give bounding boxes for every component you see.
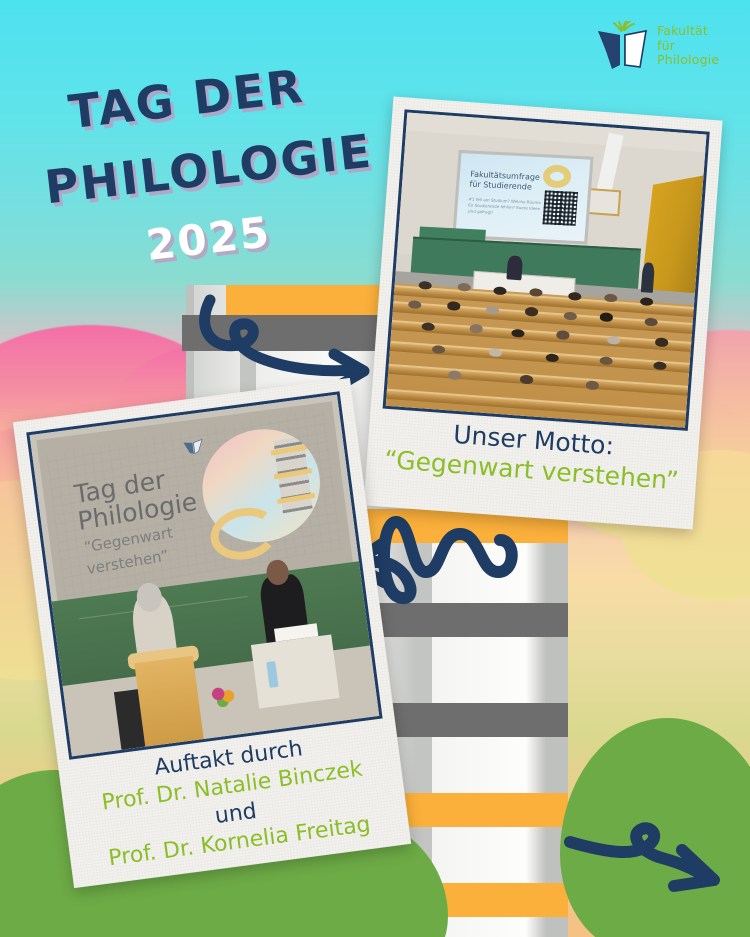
- title-line-2: PHILOLOGIE: [42, 124, 375, 215]
- slide-open-book-icon: [175, 434, 211, 459]
- photo-lecture-hall: Fakultätsumfrage für Studierende #1 Teil…: [383, 109, 710, 431]
- poster-canvas: Fakultät für Philologie TAG DER PHILOLOG…: [0, 0, 750, 937]
- faculty-logo: Fakultät für Philologie: [594, 16, 744, 76]
- attendee-head: [600, 313, 614, 323]
- poster-title: TAG DER PHILOLOGIE 2025: [52, 62, 392, 282]
- lecture-hall-speaker: [506, 256, 523, 281]
- lecture-hall-seating: [386, 283, 694, 428]
- talk-flower-bouquet: [210, 683, 238, 709]
- attendee-head: [556, 330, 570, 340]
- talk-scene: Tag der Philologie “Gegenwart verstehen”: [30, 395, 380, 757]
- lecture-hall-scene: Fakultätsumfrage für Studierende #1 Teil…: [386, 113, 707, 428]
- logo-line-2: für: [657, 39, 719, 54]
- attendee-head: [525, 307, 539, 317]
- logo-line-1: Fakultät: [657, 24, 719, 39]
- faculty-logo-text: Fakultät für Philologie: [657, 24, 719, 68]
- polaroid-lecture-hall[interactable]: Fakultätsumfrage für Studierende #1 Teil…: [363, 96, 722, 529]
- slide-subtitle: #1 Teil am Studium? Welche Räume für Stu…: [467, 197, 546, 219]
- talk-lectern: [135, 655, 204, 746]
- attendee-head: [655, 338, 669, 348]
- attendee-head: [447, 301, 461, 311]
- attendee-head: [469, 324, 483, 334]
- talk-table: [251, 634, 339, 709]
- photo-opening-talk: Tag der Philologie “Gegenwart verstehen”: [26, 391, 382, 759]
- lecture-hall-projector: [586, 188, 621, 217]
- slide-qr-code: [543, 191, 578, 227]
- attendee-head: [520, 375, 534, 385]
- polaroid-opening-talk[interactable]: Tag der Philologie “Gegenwart verstehen”: [13, 378, 411, 888]
- slide-title: Tag der Philologie: [73, 462, 199, 536]
- lecture-hall-attendee-standing: [641, 262, 655, 292]
- open-book-icon: [594, 21, 650, 71]
- title-year: 2025: [144, 207, 274, 270]
- arrow-loop-down-right-icon: [562, 800, 742, 900]
- title-line-1: TAG DER: [66, 59, 307, 139]
- logo-line-3: Philologie: [657, 53, 719, 68]
